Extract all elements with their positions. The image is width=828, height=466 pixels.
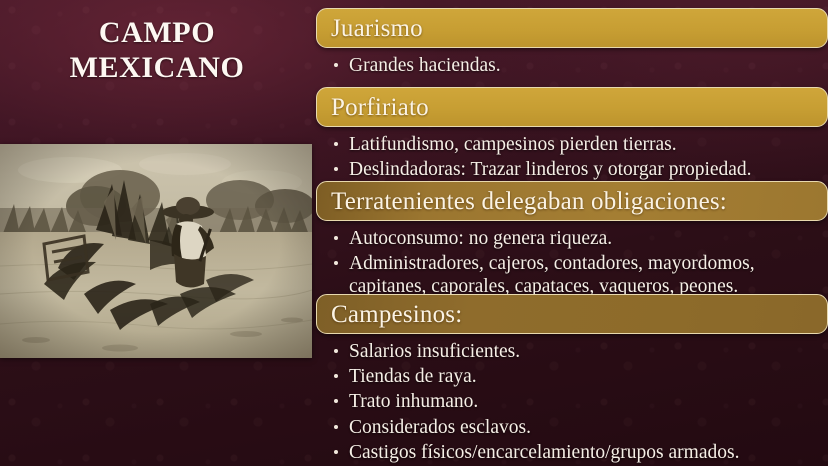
- section-terratenientes: Terratenientes delegaban obligaciones: A…: [316, 181, 828, 301]
- presentation-slide: CAMPO MEXICANO: [0, 0, 828, 466]
- section-juarismo: Juarismo Grandes haciendas.: [316, 8, 828, 79]
- section-header-terratenientes[interactable]: Terratenientes delegaban obligaciones:: [316, 181, 828, 221]
- list-item: Latifundismo, campesinos pierden tierras…: [334, 133, 828, 156]
- bullet-list-campesinos: Salarios insuficientes. Tiendas de raya.…: [316, 340, 828, 464]
- bullet-list-porfiriato: Latifundismo, campesinos pierden tierras…: [316, 133, 828, 181]
- historical-photo: [0, 144, 312, 358]
- list-item: Salarios insuficientes.: [334, 340, 828, 363]
- section-heading-label: Juarismo: [331, 16, 423, 41]
- section-heading-label: Porfiriato: [331, 95, 429, 120]
- list-item: Deslindadoras: Trazar linderos y otorgar…: [334, 158, 828, 181]
- section-header-juarismo[interactable]: Juarismo: [316, 8, 828, 48]
- section-campesinos: Campesinos: Salarios insuficientes. Tien…: [316, 294, 828, 466]
- left-column: CAMPO MEXICANO: [0, 0, 314, 466]
- section-heading-label: Terratenientes delegaban obligaciones:: [331, 189, 727, 214]
- section-porfiriato: Porfiriato Latifundismo, campesinos pier…: [316, 87, 828, 183]
- section-header-campesinos[interactable]: Campesinos:: [316, 294, 828, 334]
- bullet-list-terratenientes: Autoconsumo: no genera riqueza. Administ…: [316, 227, 828, 299]
- list-item: Administradores, cajeros, contadores, ma…: [334, 252, 828, 298]
- list-item: Castigos físicos/encarcelamiento/grupos …: [334, 441, 828, 464]
- bullet-list-juarismo: Grandes haciendas.: [316, 54, 828, 77]
- section-header-porfiriato[interactable]: Porfiriato: [316, 87, 828, 127]
- list-item: Grandes haciendas.: [334, 54, 828, 77]
- list-item: Tiendas de raya.: [334, 365, 828, 388]
- page-title: CAMPO MEXICANO: [0, 16, 314, 86]
- right-column: Juarismo Grandes haciendas. Porfiriato L…: [316, 0, 828, 466]
- list-item: Considerados esclavos.: [334, 416, 828, 439]
- list-item: Trato inhumano.: [334, 390, 828, 413]
- section-heading-label: Campesinos:: [331, 302, 462, 327]
- list-item: Autoconsumo: no genera riqueza.: [334, 227, 828, 250]
- photo-image: [0, 144, 312, 358]
